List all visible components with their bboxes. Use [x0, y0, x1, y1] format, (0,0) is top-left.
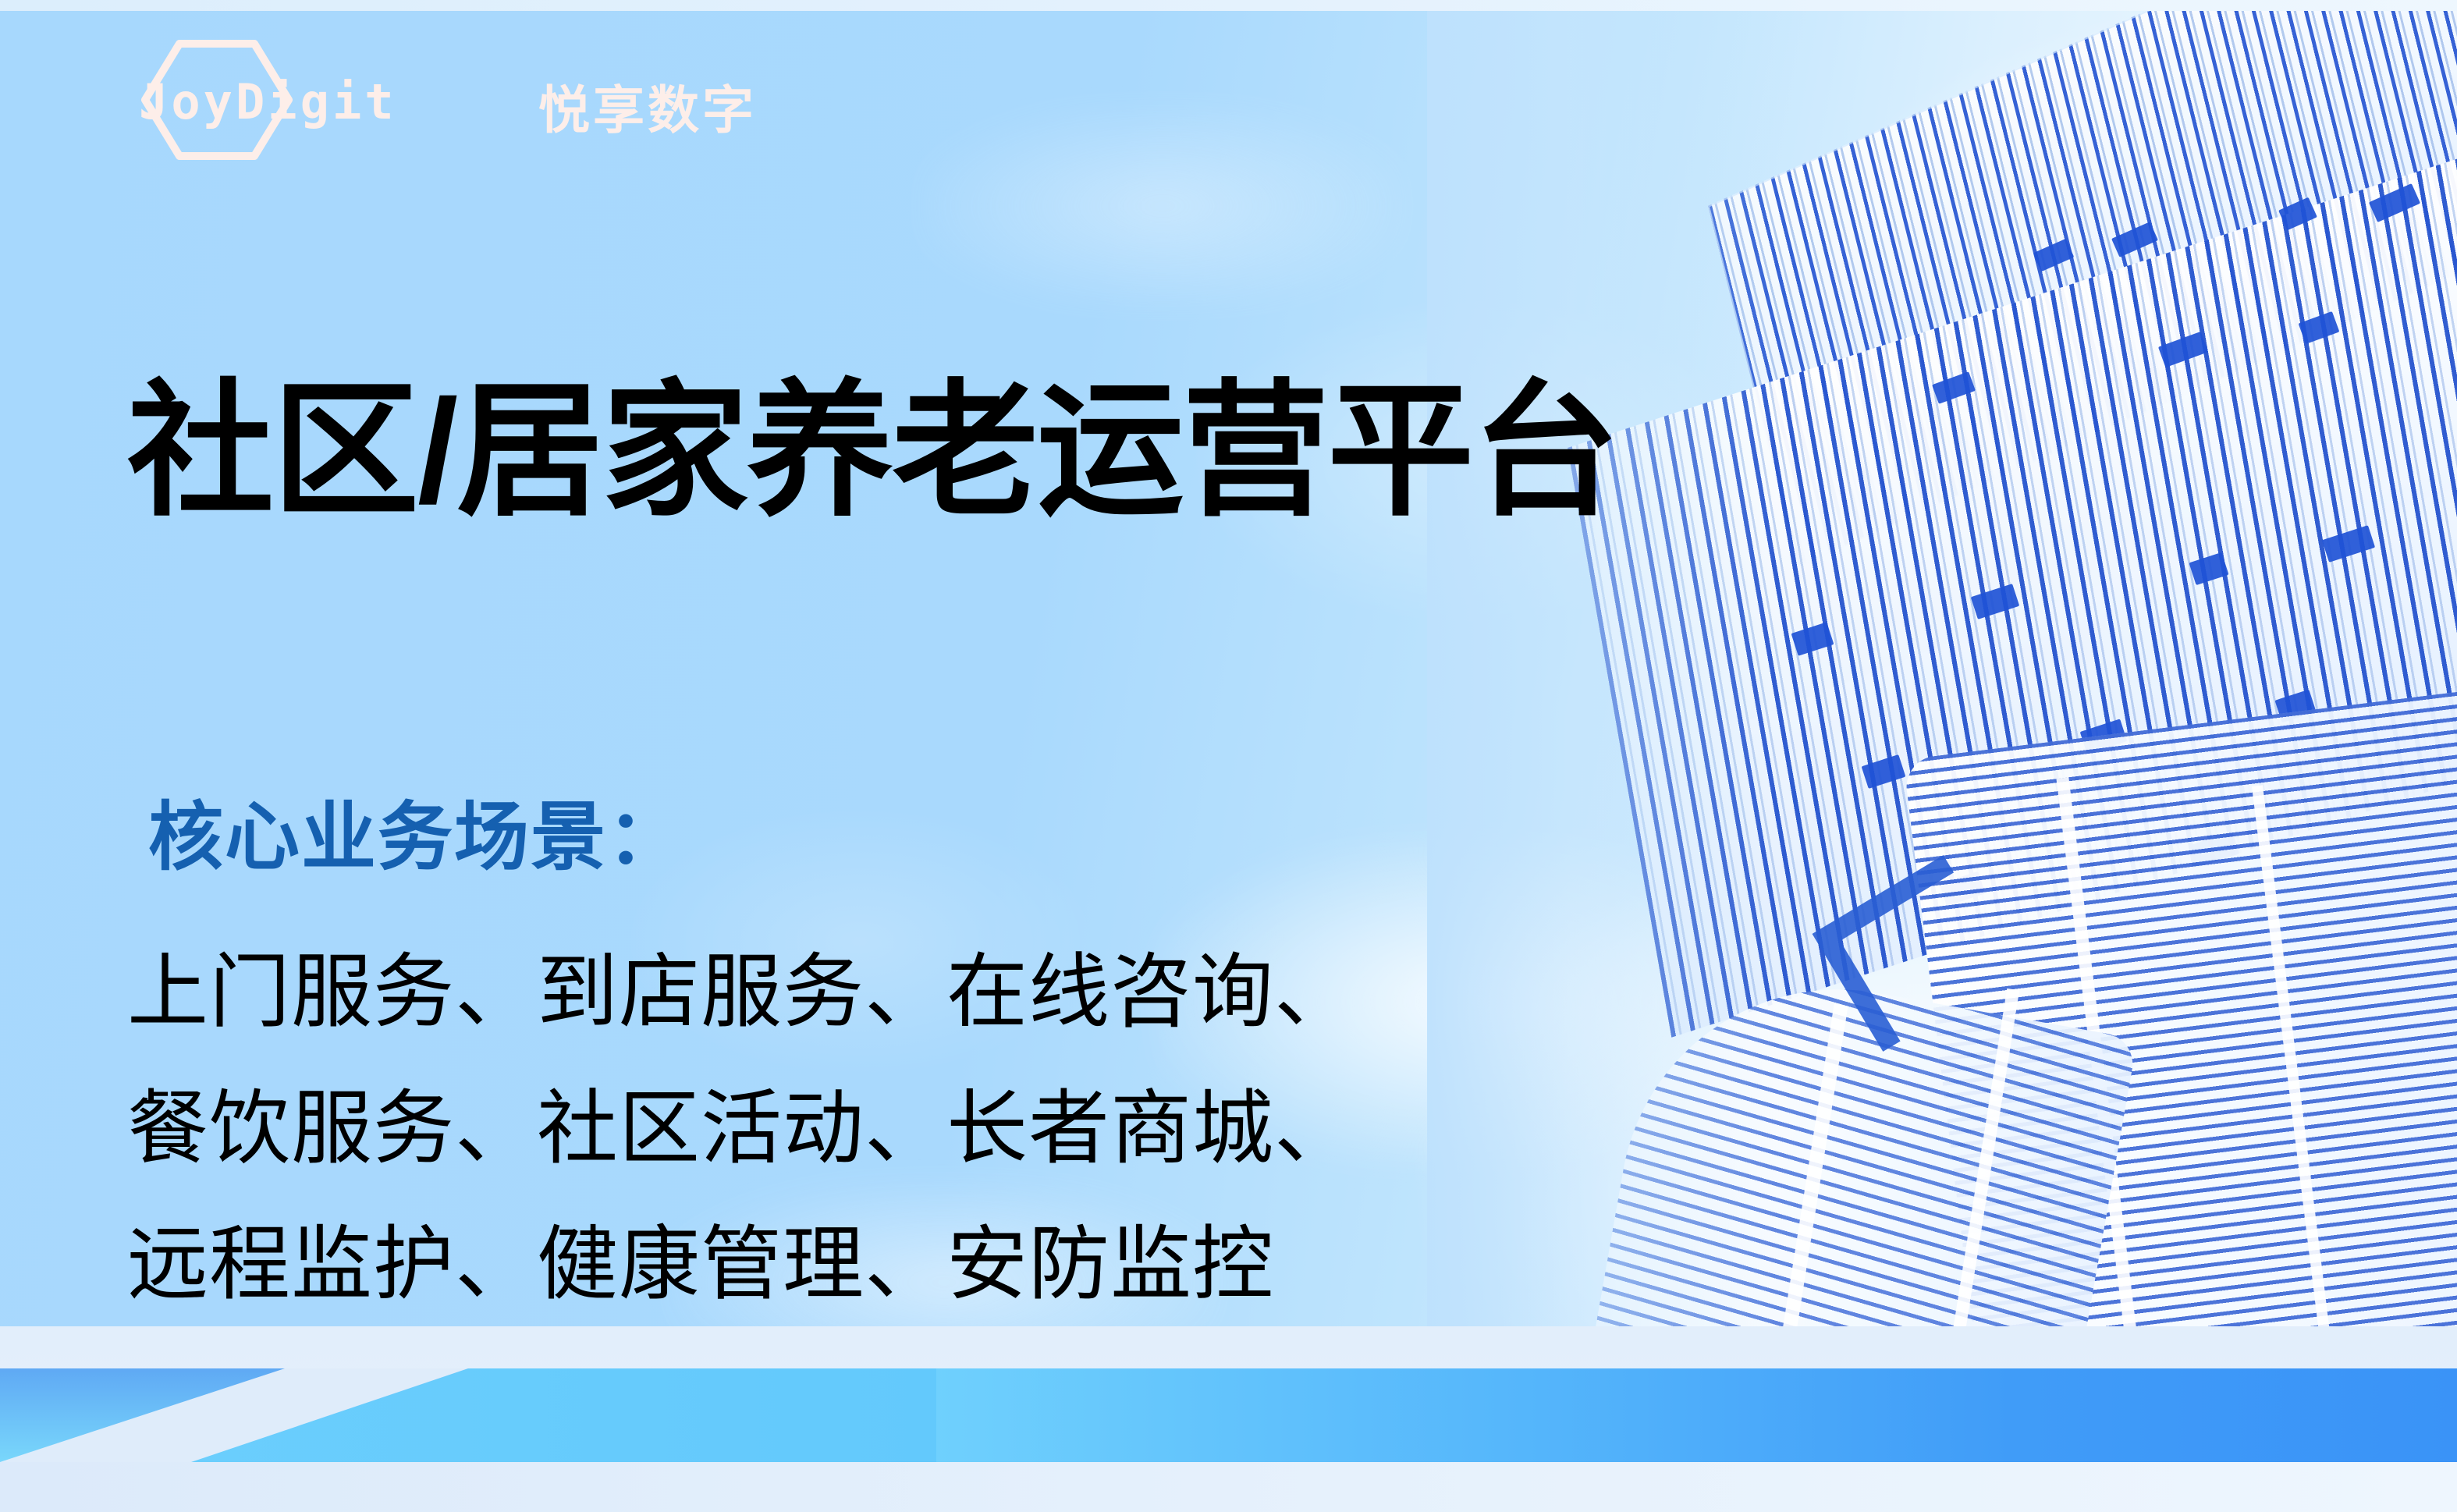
page-title: 社区/居家养老运营平台	[127, 375, 1617, 528]
bottom-banner	[0, 1326, 2457, 1512]
scenario-line: 餐饮服务、社区活动、长者商城、	[127, 1061, 1356, 1198]
hexagon-icon: JoyDigit	[139, 37, 295, 162]
banner-underline-strip	[0, 1462, 2457, 1512]
logo-chinese-text: 悦享数字	[538, 69, 757, 144]
scenario-line: 上门服务、到店服务、在线咨询、	[127, 925, 1356, 1061]
cloud-wisp	[921, 105, 1404, 307]
scenario-line: 远程监护、健康管理、安防监控	[127, 1197, 1356, 1333]
top-edge-strip	[0, 0, 2457, 11]
logo-latin-text: JoyDigit	[139, 73, 397, 130]
brand-logo: JoyDigit 悦享数字	[139, 69, 757, 144]
core-scenario-list: 上门服务、到店服务、在线咨询、 餐饮服务、社区活动、长者商城、 远程监护、健康管…	[127, 925, 1356, 1333]
slide-canvas: JoyDigit 悦享数字 社区/居家养老运营平台 核心业务场景： 上门服务、到…	[0, 0, 2457, 1512]
skyscraper-photo	[1427, 11, 2457, 1407]
section-heading: 核心业务场景：	[148, 776, 683, 885]
